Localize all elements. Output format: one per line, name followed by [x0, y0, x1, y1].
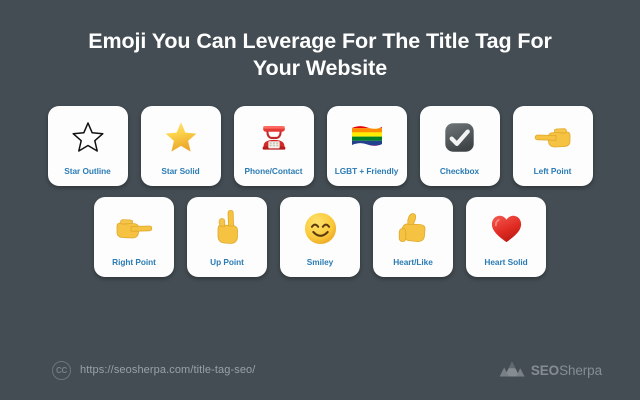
- emoji-card-heart-like[interactable]: Heart/Like: [373, 197, 453, 277]
- star-outline-emoji: [48, 117, 128, 157]
- source-url[interactable]: https://seosherpa.com/title-tag-seo/: [80, 364, 255, 376]
- backhand-index-pointing-left-emoji: [513, 117, 593, 157]
- emoji-card-smiley[interactable]: Smiley: [280, 197, 360, 277]
- check-mark-button-emoji: [420, 117, 500, 157]
- title-block: Emoji You Can Leverage For The Title Tag…: [0, 0, 640, 82]
- emoji-row-2: Right Point Up Point: [0, 197, 640, 277]
- emoji-card-label: Star Solid: [141, 166, 221, 176]
- emoji-card-label: LGBT + Friendly: [327, 166, 407, 176]
- emoji-card-label: Star Outline: [48, 166, 128, 176]
- emoji-card-star-outline[interactable]: Star Outline: [48, 106, 128, 186]
- infographic-canvas: Emoji You Can Leverage For The Title Tag…: [0, 0, 640, 400]
- brand-secondary: Sherpa: [559, 363, 602, 378]
- emoji-card-label: Right Point: [94, 257, 174, 267]
- backhand-index-pointing-right-emoji: [94, 208, 174, 248]
- star-solid-emoji: [141, 117, 221, 157]
- emoji-card-phone-contact[interactable]: Phone/Contact: [234, 106, 314, 186]
- thumbs-up-emoji: [373, 208, 453, 248]
- emoji-card-label: Heart Solid: [466, 257, 546, 267]
- emoji-card-up-point[interactable]: Up Point: [187, 197, 267, 277]
- emoji-card-label: Phone/Contact: [234, 166, 314, 176]
- emoji-card-checkbox[interactable]: Checkbox: [420, 106, 500, 186]
- emoji-card-heart-solid[interactable]: Heart Solid: [466, 197, 546, 277]
- emoji-card-label: Smiley: [280, 257, 360, 267]
- smiling-face-with-smiling-eyes-emoji: [280, 208, 360, 248]
- rainbow-flag-emoji: [327, 117, 407, 157]
- emoji-card-label: Checkbox: [420, 166, 500, 176]
- emoji-card-left-point[interactable]: Left Point: [513, 106, 593, 186]
- emoji-card-label: Up Point: [187, 257, 267, 267]
- creative-commons-icon: CC: [52, 361, 71, 380]
- emoji-card-grid: Star Outline Star: [0, 106, 640, 277]
- emoji-card-label: Left Point: [513, 166, 593, 176]
- emoji-row-1: Star Outline Star: [0, 106, 640, 186]
- index-pointing-up-emoji: [187, 208, 267, 248]
- footer-attribution: CC https://seosherpa.com/title-tag-seo/: [52, 361, 255, 380]
- page-title: Emoji You Can Leverage For The Title Tag…: [85, 28, 555, 82]
- brand-primary: SEO: [531, 363, 559, 378]
- brand-name: SEOSherpa: [531, 363, 602, 378]
- emoji-card-label: Heart/Like: [373, 257, 453, 267]
- emoji-card-star-solid[interactable]: Star Solid: [141, 106, 221, 186]
- emoji-card-lgbt-friendly[interactable]: LGBT + Friendly: [327, 106, 407, 186]
- brand-logo[interactable]: SEOSherpa: [499, 360, 602, 380]
- emoji-card-right-point[interactable]: Right Point: [94, 197, 174, 277]
- footer-bar: CC https://seosherpa.com/title-tag-seo/ …: [0, 354, 640, 386]
- mountain-icon: [499, 360, 525, 380]
- telephone-emoji: [234, 117, 314, 157]
- red-heart-emoji: [466, 208, 546, 248]
